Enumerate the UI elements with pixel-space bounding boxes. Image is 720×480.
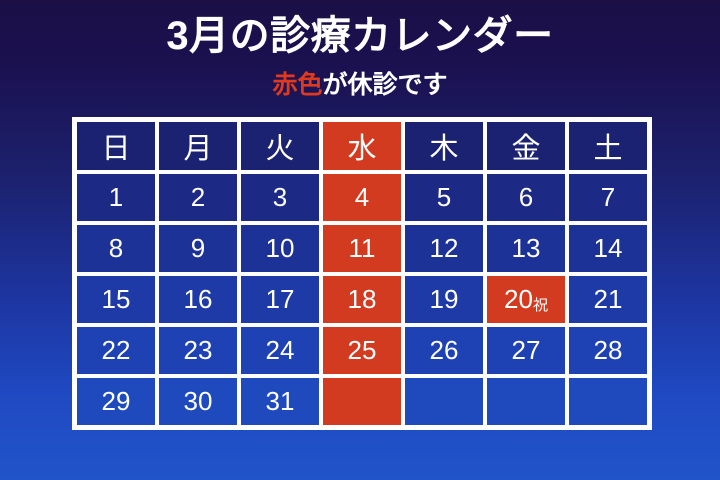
day-number: 16 (184, 284, 213, 314)
calendar-week-row: 151617181920祝21 (75, 274, 649, 325)
day-number: 22 (102, 335, 131, 365)
day-number: 18 (348, 284, 377, 314)
calendar-day-17[interactable]: 17 (239, 274, 321, 325)
day-number: 7 (601, 182, 615, 212)
day-number: 1 (109, 182, 123, 212)
calendar-day-31[interactable]: 31 (239, 376, 321, 427)
calendar-week-row: 891011121314 (75, 223, 649, 274)
day-number: 20 (504, 284, 533, 314)
calendar-day-20[interactable]: 20祝 (485, 274, 567, 325)
calendar-day-21[interactable]: 21 (567, 274, 649, 325)
subtitle: 赤色が休診です (0, 68, 720, 102)
calendar-day-24[interactable]: 24 (239, 325, 321, 376)
day-number: 31 (266, 386, 295, 416)
day-number: 8 (109, 233, 123, 263)
day-number: 30 (184, 386, 213, 416)
day-number: 29 (102, 386, 131, 416)
calendar-day-16[interactable]: 16 (157, 274, 239, 325)
calendar-day-9[interactable]: 9 (157, 223, 239, 274)
calendar-day-2[interactable]: 2 (157, 172, 239, 223)
calendar-cell-empty (403, 376, 485, 427)
calendar-page: 3月の診療カレンダー 赤色が休診です 日月火水木金土12345678910111… (0, 0, 720, 480)
calendar-cell-empty (485, 376, 567, 427)
day-number: 6 (519, 182, 533, 212)
calendar-day-14[interactable]: 14 (567, 223, 649, 274)
calendar-day-11[interactable]: 11 (321, 223, 403, 274)
subtitle-accent-text: 赤色 (272, 71, 322, 99)
weekday-header-0: 日 (75, 120, 157, 172)
subtitle-rest-text: が休診です (323, 71, 448, 99)
day-number: 21 (594, 284, 623, 314)
calendar-week-row: 293031 (75, 376, 649, 427)
calendar-day-29[interactable]: 29 (75, 376, 157, 427)
day-number: 27 (512, 335, 541, 365)
weekday-header-row: 日月火水木金土 (75, 120, 649, 172)
calendar-day-19[interactable]: 19 (403, 274, 485, 325)
calendar-day-8[interactable]: 8 (75, 223, 157, 274)
clinic-calendar-table: 日月火水木金土1234567891011121314151617181920祝2… (72, 117, 652, 430)
day-number: 2 (191, 182, 205, 212)
calendar-day-22[interactable]: 22 (75, 325, 157, 376)
calendar-day-3[interactable]: 3 (239, 172, 321, 223)
calendar-day-5[interactable]: 5 (403, 172, 485, 223)
page-title: 3月の診療カレンダー (0, 10, 720, 62)
day-number: 25 (348, 335, 377, 365)
calendar-day-1[interactable]: 1 (75, 172, 157, 223)
calendar-day-18[interactable]: 18 (321, 274, 403, 325)
day-number: 12 (430, 233, 459, 263)
day-number: 17 (266, 284, 295, 314)
calendar-day-30[interactable]: 30 (157, 376, 239, 427)
weekday-header-1: 月 (157, 120, 239, 172)
day-number: 3 (273, 182, 287, 212)
day-number: 23 (184, 335, 213, 365)
holiday-badge: 祝 (533, 297, 548, 314)
calendar-day-13[interactable]: 13 (485, 223, 567, 274)
calendar-day-4[interactable]: 4 (321, 172, 403, 223)
calendar-day-10[interactable]: 10 (239, 223, 321, 274)
calendar-week-row: 22232425262728 (75, 325, 649, 376)
calendar-day-28[interactable]: 28 (567, 325, 649, 376)
weekday-header-2: 火 (239, 120, 321, 172)
calendar-day-27[interactable]: 27 (485, 325, 567, 376)
calendar-week-row: 1234567 (75, 172, 649, 223)
calendar-day-26[interactable]: 26 (403, 325, 485, 376)
day-number: 28 (594, 335, 623, 365)
calendar-day-23[interactable]: 23 (157, 325, 239, 376)
calendar-day-12[interactable]: 12 (403, 223, 485, 274)
calendar-cell-empty (321, 376, 403, 427)
day-number: 14 (594, 233, 623, 263)
day-number: 26 (430, 335, 459, 365)
day-number: 15 (102, 284, 131, 314)
calendar-day-6[interactable]: 6 (485, 172, 567, 223)
day-number: 13 (512, 233, 541, 263)
day-number: 10 (266, 233, 295, 263)
calendar-day-15[interactable]: 15 (75, 274, 157, 325)
calendar-day-25[interactable]: 25 (321, 325, 403, 376)
weekday-header-5: 金 (485, 120, 567, 172)
day-number: 19 (430, 284, 459, 314)
day-number: 9 (191, 233, 205, 263)
day-number: 11 (349, 233, 376, 263)
day-number: 5 (437, 182, 451, 212)
day-number: 24 (266, 335, 295, 365)
weekday-header-4: 木 (403, 120, 485, 172)
calendar-cell-empty (567, 376, 649, 427)
weekday-header-6: 土 (567, 120, 649, 172)
calendar-day-7[interactable]: 7 (567, 172, 649, 223)
weekday-header-3: 水 (321, 120, 403, 172)
day-number: 4 (355, 182, 369, 212)
